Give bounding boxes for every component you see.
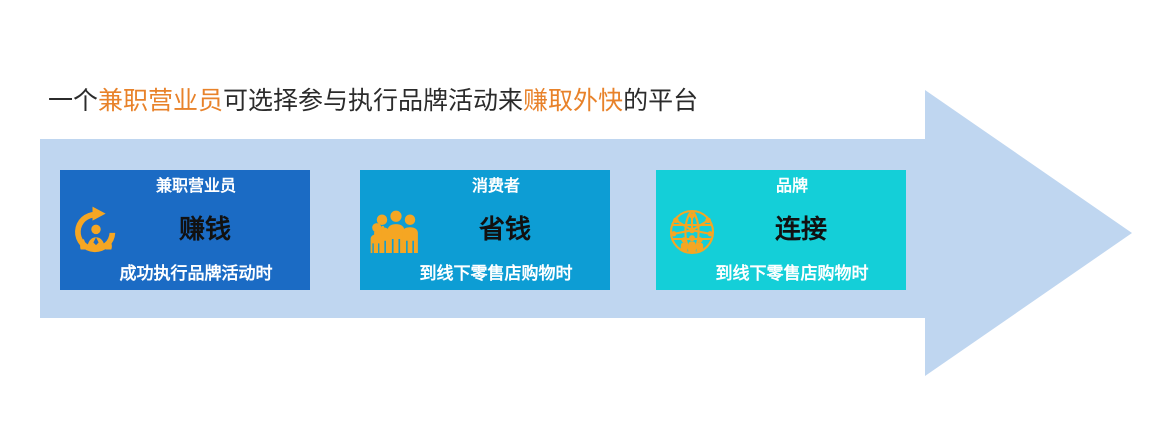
card-caption-label: 到线下零售店购物时: [360, 262, 610, 286]
card-header-label: 消费者: [360, 176, 610, 198]
card-part-time-clerk[interactable]: 兼职营业员 赚钱 成功执行品牌活动时: [60, 170, 310, 290]
page-title: 一个兼职营业员可选择参与执行品牌活动来赚取外快的平台: [48, 86, 698, 118]
card-brand[interactable]: 品牌: [656, 170, 906, 290]
headline-segment-1: 一个: [48, 88, 98, 115]
card-main-label: 赚钱: [60, 214, 310, 246]
card-consumer[interactable]: 消费者 省钱 到线下零售店购物时: [360, 170, 610, 290]
card-header-label: 兼职营业员: [60, 176, 310, 198]
card-main-label: 省钱: [360, 214, 610, 246]
headline-segment-5: 的平台: [623, 88, 698, 115]
card-caption-label: 成功执行品牌活动时: [60, 262, 310, 286]
headline-segment-2: 兼职营业员: [98, 88, 223, 115]
headline-segment-3: 可选择参与执行品牌活动来: [223, 88, 523, 115]
card-caption-label: 到线下零售店购物时: [656, 262, 906, 286]
headline-segment-4: 赚取外快: [523, 88, 623, 115]
card-main-label: 连接: [656, 214, 906, 246]
card-header-label: 品牌: [656, 176, 906, 198]
